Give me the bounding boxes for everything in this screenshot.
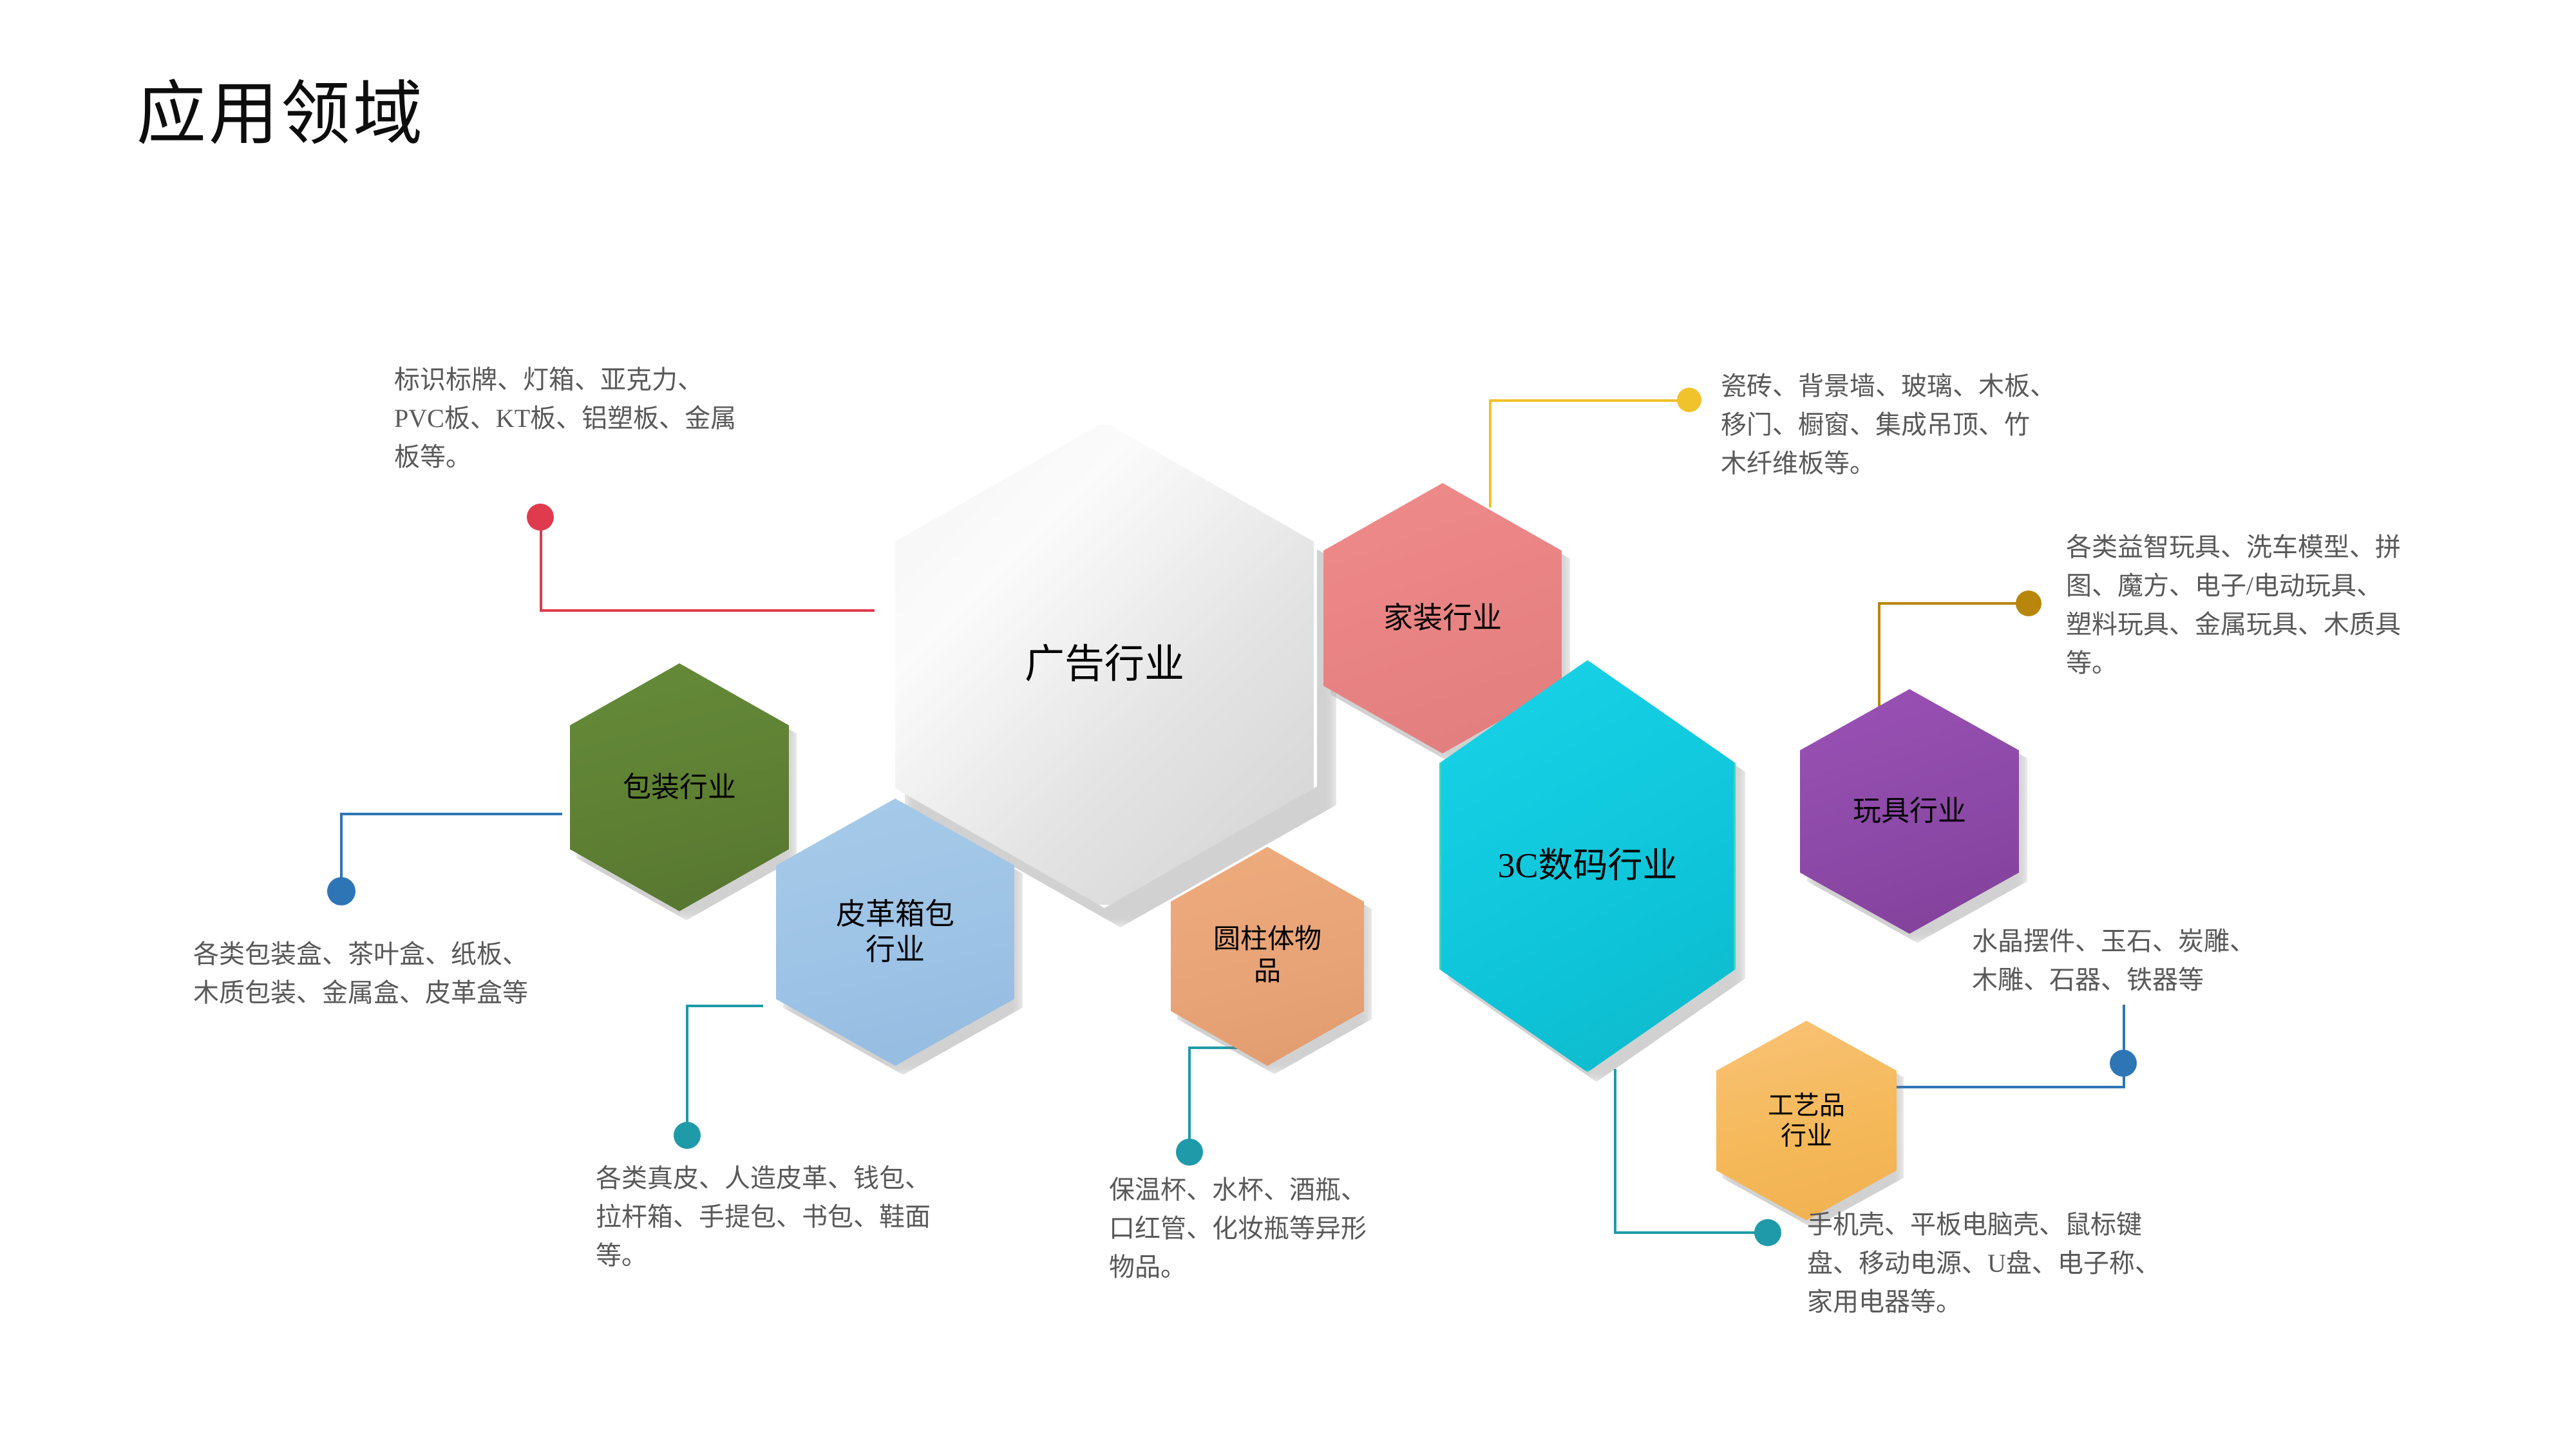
connector-dot-leather xyxy=(674,1122,701,1149)
callout-leather: 各类真皮、人造皮革、钱包、 拉杆箱、手提包、书包、鞋面 等。 xyxy=(596,1159,1046,1275)
page-title: 应用领域 xyxy=(137,77,425,154)
hexagon-label-crafts: 工艺品 行业 xyxy=(1757,1090,1856,1151)
callout-advertising: 标识标牌、灯箱、亚克力、 PVC板、KT板、铝塑板、金属 板等。 xyxy=(394,361,838,477)
connector-dot-toys xyxy=(2016,591,2041,616)
connector-dot-packaging xyxy=(327,877,355,905)
infographic-canvas: 应用领域 xyxy=(0,0,2576,1449)
hexagon-label-packaging: 包装行业 xyxy=(610,771,750,804)
hexagon-label-advertising: 广告行业 xyxy=(999,641,1209,688)
hexagon-label-home-decor: 家装行业 xyxy=(1369,601,1516,636)
hexagon-label-leather: 皮革箱包 行业 xyxy=(822,897,969,967)
callout-toys: 各类益智玩具、洗车模型、拼 图、魔方、电子/电动玩具、 塑料玩具、金属玩具、木质… xyxy=(2066,528,2517,683)
hexagon-label-cylinder: 圆柱体物 品 xyxy=(1202,924,1333,988)
connector-dot-home-decor xyxy=(1677,388,1701,412)
callout-crafts: 水晶摆件、玉石、炭雕、 木雕、石器、铁器等 xyxy=(1972,922,2384,999)
callout-digital-3c: 手机壳、平板电脑壳、鼠标键 盘、移动电源、U盘、电子称、 家用电器等。 xyxy=(1807,1206,2271,1321)
callout-cylinder: 保温杯、水杯、酒瓶、 口红管、化妆瓶等异形 物品。 xyxy=(1109,1171,1508,1287)
callout-packaging: 各类包装盒、茶叶盒、纸板、 木质包装、金属盒、皮革盒等 xyxy=(193,935,657,1012)
hexagon-label-toys: 玩具行业 xyxy=(1840,795,1980,828)
callout-home-decor: 瓷砖、背景墙、玻璃、木板、 移门、橱窗、集成吊顶、竹 木纤维板等。 xyxy=(1721,367,2172,483)
connector-dot-digital-3c xyxy=(1754,1219,1781,1246)
hexagon-label-digital-3c: 3C数码行业 xyxy=(1480,846,1695,887)
connector-dot-crafts xyxy=(2110,1050,2137,1077)
connector-dot-cylinder xyxy=(1176,1139,1203,1166)
connector-dot-advertising xyxy=(527,504,554,531)
